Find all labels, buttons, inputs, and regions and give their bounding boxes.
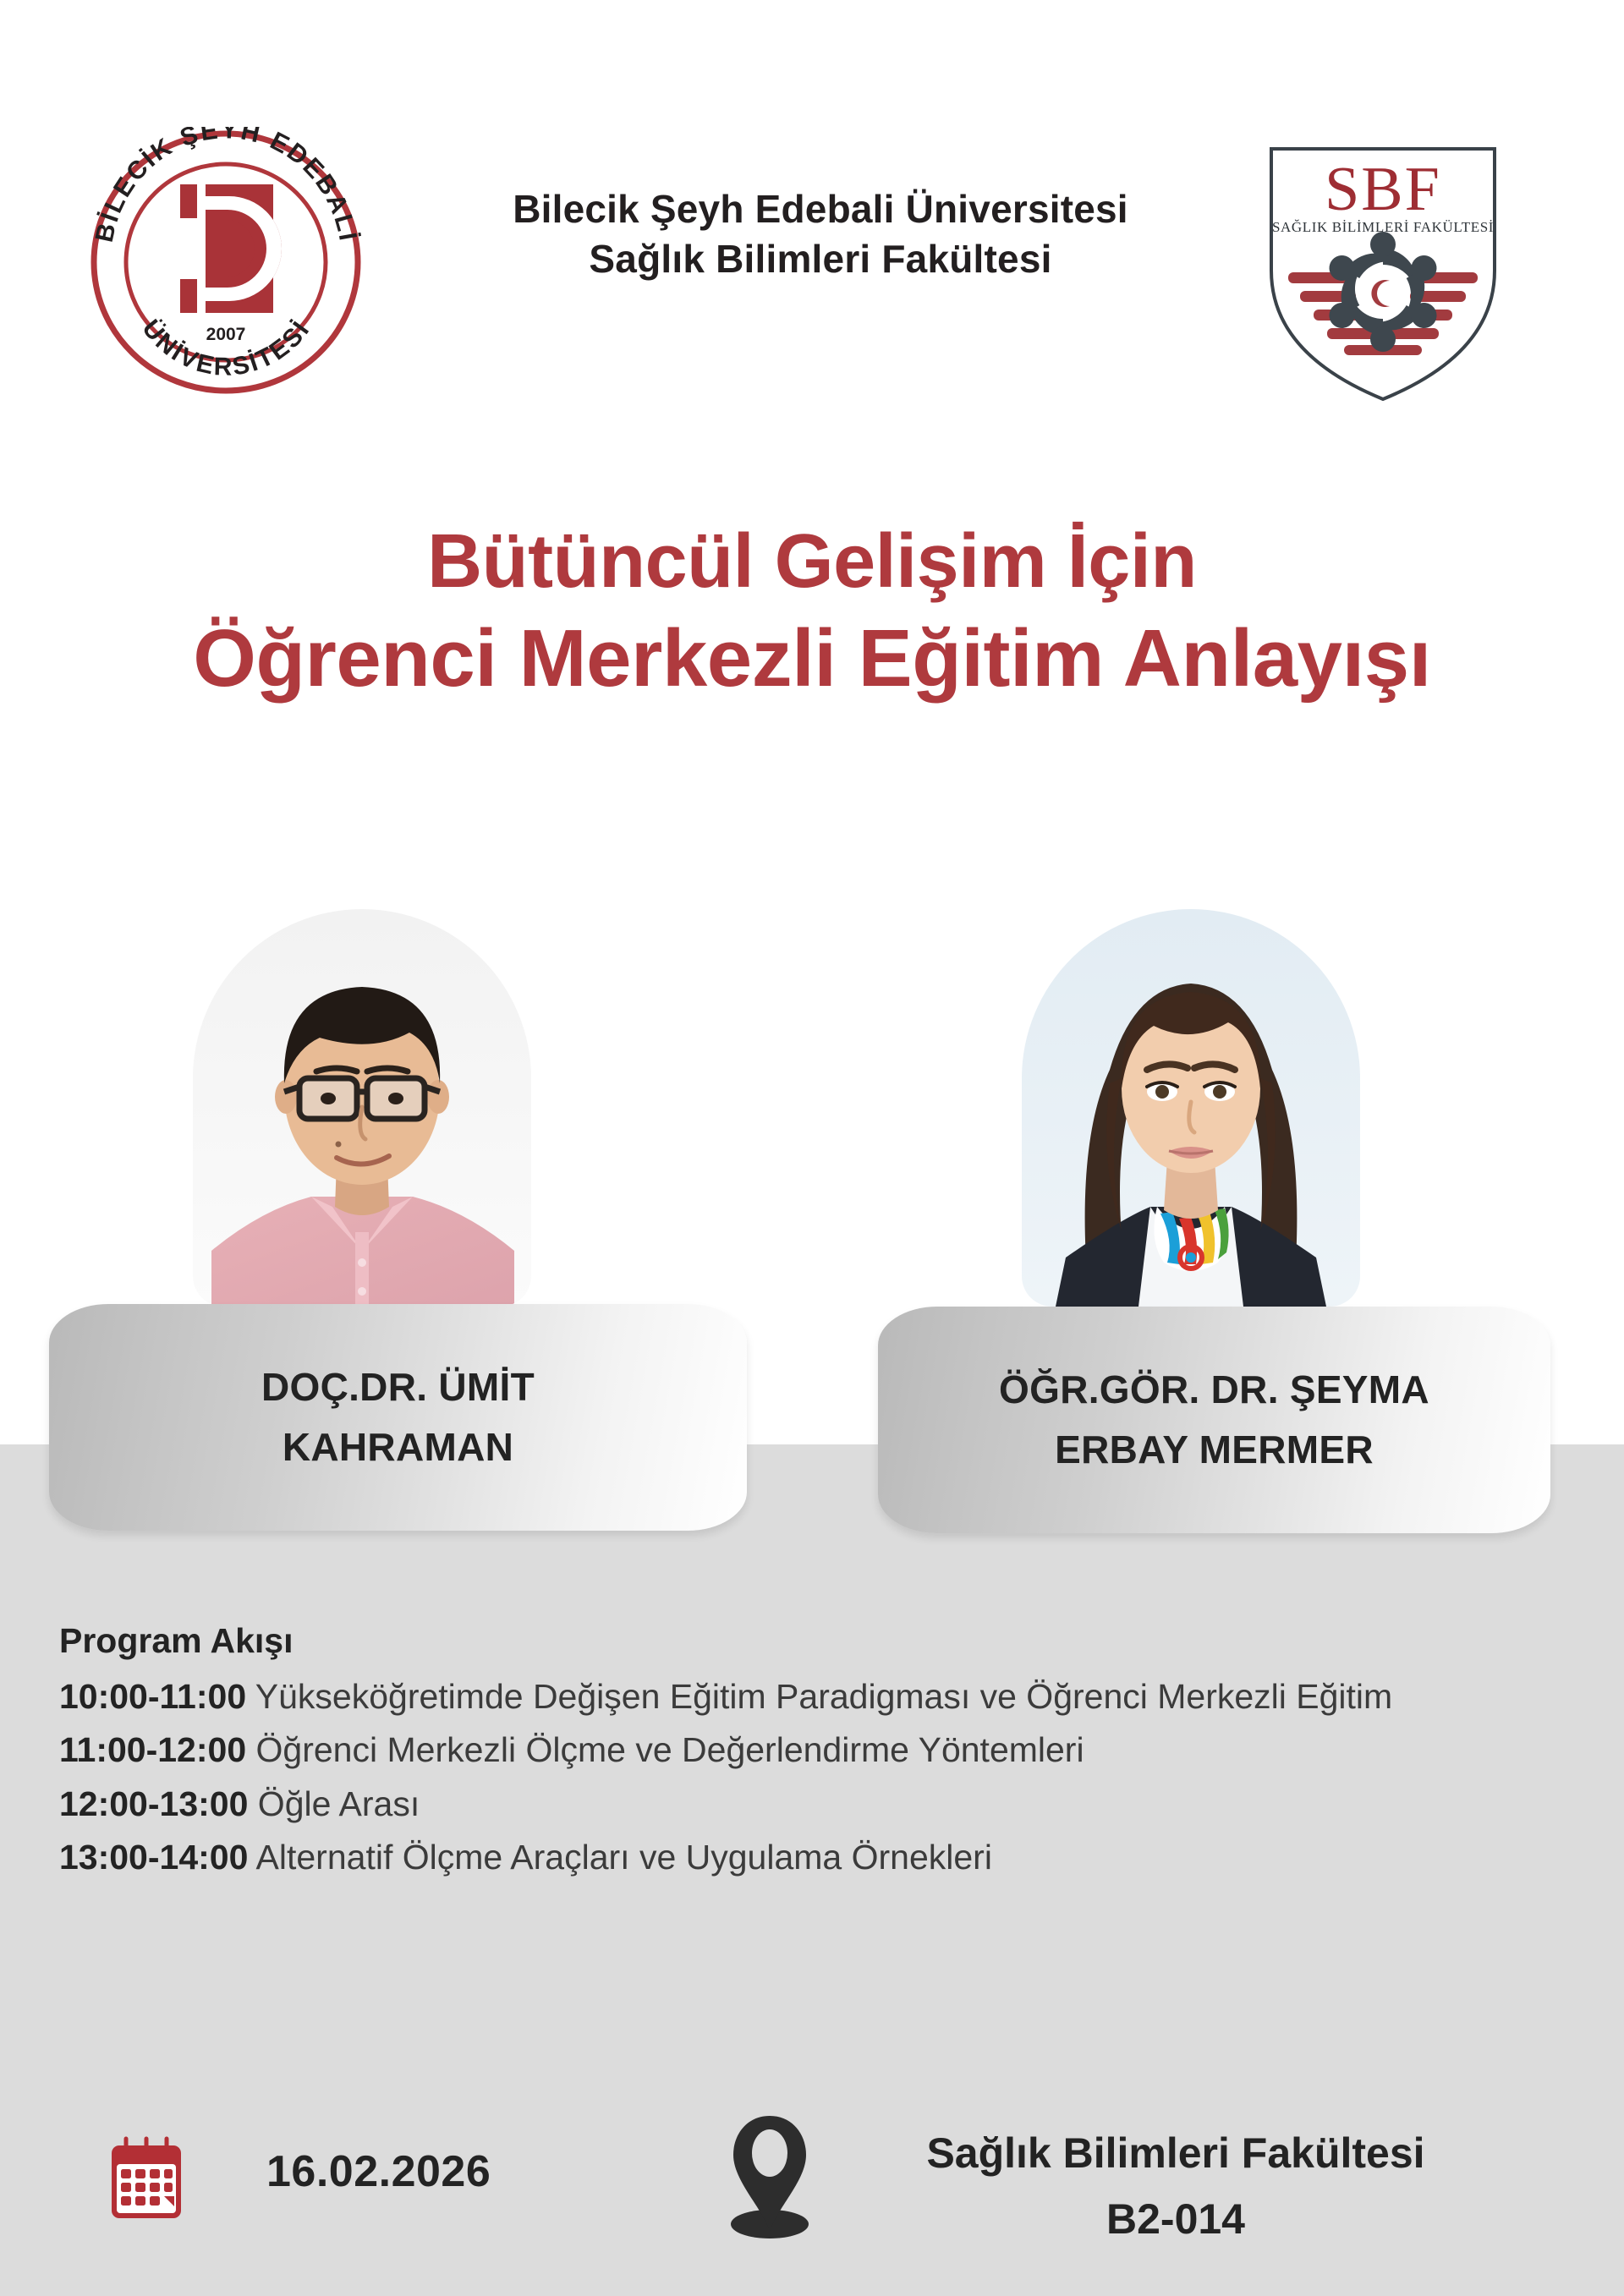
avatar-male <box>193 909 531 1307</box>
title-line-1: Bütüncül Gelişim İçin <box>0 516 1624 609</box>
poster-title: Bütüncül Gelişim İçin Öğrenci Merkezli E… <box>0 516 1624 708</box>
venue-line-1: Sağlık Bilimleri Fakültesi <box>854 2121 1497 2187</box>
poster-header: BİLECİK ŞEYH EDEBALİ ÜNİVERSİTESİ 2007 <box>0 110 1624 389</box>
faculty-shield-icon: SBF SAĞLIK BİLİMLERİ FAKÜLTESİ <box>1256 127 1510 406</box>
program-item: 12:00-13:00 Öğle Arası <box>59 1778 1573 1831</box>
program-item: 10:00-11:00 Yükseköğretimde Değişen Eğit… <box>59 1671 1573 1723</box>
map-pin-icon <box>723 2112 816 2239</box>
program-item-time: 11:00-12:00 <box>59 1730 246 1769</box>
avatar-female <box>1022 909 1360 1307</box>
svg-text:SBF: SBF <box>1325 155 1441 224</box>
program-item-topic: Öğle Arası <box>258 1784 420 1823</box>
university-seal-icon: BİLECİK ŞEYH EDEBALİ ÜNİVERSİTESİ 2007 <box>80 127 372 397</box>
program-schedule: Program Akışı 10:00-11:00 Yükseköğretimd… <box>59 1615 1573 1886</box>
svg-text:2007: 2007 <box>206 325 246 344</box>
program-item: 13:00-14:00 Alternatif Ölçme Araçları ve… <box>59 1832 1573 1884</box>
speaker-1-name-line-1: DOÇ.DR. ÜMİT <box>261 1357 535 1417</box>
program-item-topic: Yükseköğretimde Değişen Eğitim Paradigma… <box>255 1677 1392 1716</box>
program-heading: Program Akışı <box>59 1615 1573 1668</box>
nameplate-speaker-1: DOÇ.DR. ÜMİT KAHRAMAN <box>49 1304 747 1531</box>
event-venue: Sağlık Bilimleri Fakültesi B2-014 <box>854 2121 1497 2252</box>
speaker-2-name-line-2: ERBAY MERMER <box>1055 1420 1374 1480</box>
venue-line-2: B2-014 <box>854 2187 1497 2253</box>
speaker-photo-left <box>193 909 531 1307</box>
program-item-time: 10:00-11:00 <box>59 1677 246 1716</box>
event-poster: BİLECİK ŞEYH EDEBALİ ÜNİVERSİTESİ 2007 <box>0 0 1624 2296</box>
poster-footer: 16.02.2026 Sağlık Bilimleri Fakültesi B2… <box>0 2097 1624 2283</box>
program-item: 11:00-12:00 Öğrenci Merkezli Ölçme ve De… <box>59 1724 1573 1777</box>
program-item-time: 12:00-13:00 <box>59 1784 248 1823</box>
speaker-2-name-line-1: ÖĞR.GÖR. DR. ŞEYMA <box>999 1360 1429 1420</box>
institution-line-2: Sağlık Bilimleri Fakültesi <box>423 234 1218 284</box>
speaker-photo-right <box>1022 909 1360 1307</box>
nameplate-speaker-2: ÖĞR.GÖR. DR. ŞEYMA ERBAY MERMER <box>878 1307 1550 1533</box>
speaker-1-name-line-2: KAHRAMAN <box>283 1417 513 1477</box>
event-date: 16.02.2026 <box>266 2146 491 2197</box>
title-line-2: Öğrenci Merkezli Eğitim Anlayışı <box>0 609 1624 708</box>
institution-name: Bilecik Şeyh Edebali Üniversitesi Sağlık… <box>423 184 1218 284</box>
program-item-topic: Öğrenci Merkezli Ölçme ve Değerlendirme … <box>256 1730 1084 1769</box>
calendar-icon <box>110 2135 183 2220</box>
program-item-topic: Alternatif Ölçme Araçları ve Uygulama Ör… <box>256 1838 992 1877</box>
institution-line-1: Bilecik Şeyh Edebali Üniversitesi <box>423 184 1218 234</box>
program-item-time: 13:00-14:00 <box>59 1838 248 1877</box>
